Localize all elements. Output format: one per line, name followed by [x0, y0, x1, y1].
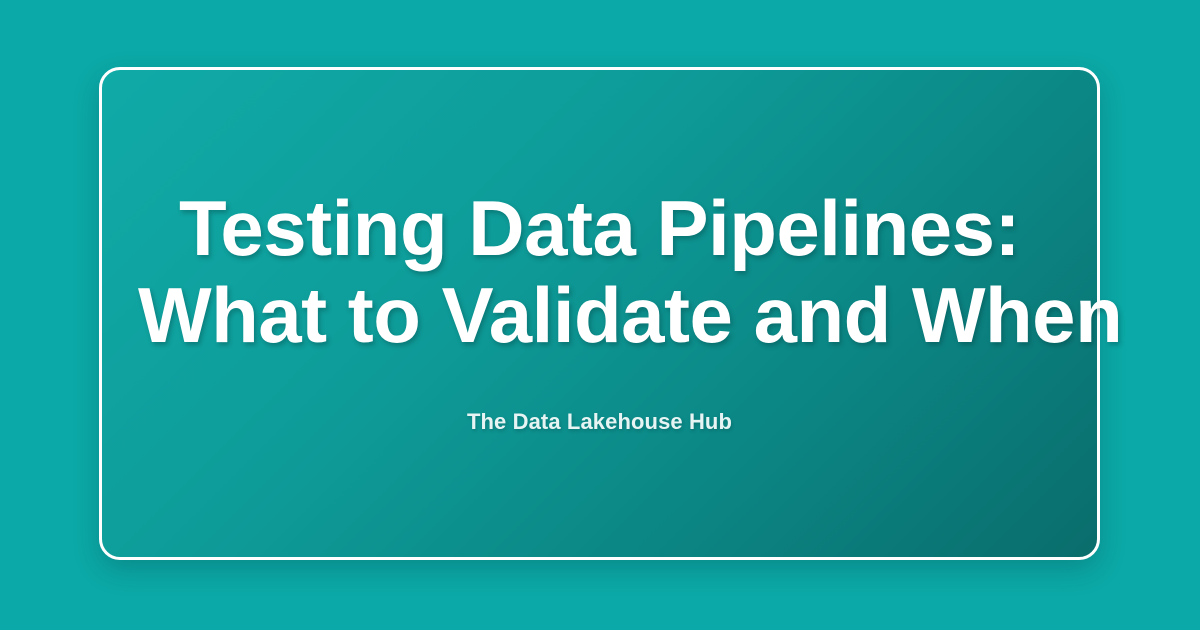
og-image-canvas: Testing Data Pipelines: What to Validate…	[0, 0, 1200, 630]
page-title-line-1: Testing Data Pipelines:	[138, 185, 1061, 272]
hero-card: Testing Data Pipelines: What to Validate…	[99, 67, 1100, 560]
page-title: Testing Data Pipelines: What to Validate…	[138, 185, 1061, 359]
page-title-line-2: What to Validate and When	[138, 272, 1061, 359]
card-content: Testing Data Pipelines: What to Validate…	[102, 185, 1097, 436]
page-subtitle: The Data Lakehouse Hub	[138, 408, 1061, 436]
